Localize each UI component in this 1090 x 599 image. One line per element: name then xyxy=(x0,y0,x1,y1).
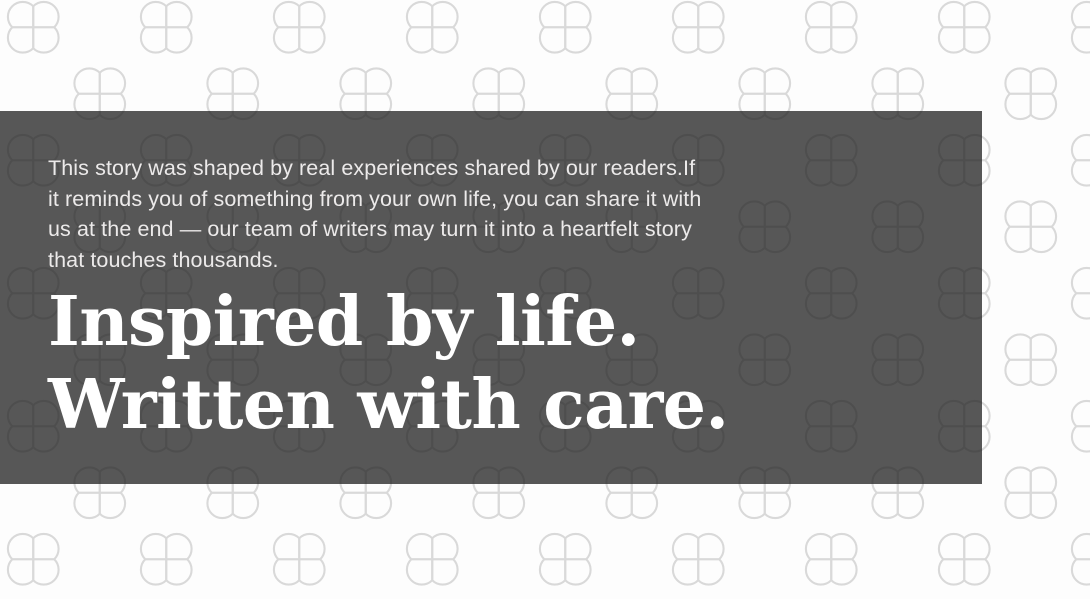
headline-line-1: Inspired by life. xyxy=(48,282,640,362)
dark-content-band: This story was shaped by real experience… xyxy=(0,111,982,484)
headline-line-2: Written with care. xyxy=(48,365,729,445)
headline: Inspired by life. Written with care. xyxy=(48,281,748,447)
promo-banner: This story was shaped by real experience… xyxy=(0,0,1090,599)
band-text-content: This story was shaped by real experience… xyxy=(48,111,748,484)
intro-paragraph: This story was shaped by real experience… xyxy=(48,153,708,275)
